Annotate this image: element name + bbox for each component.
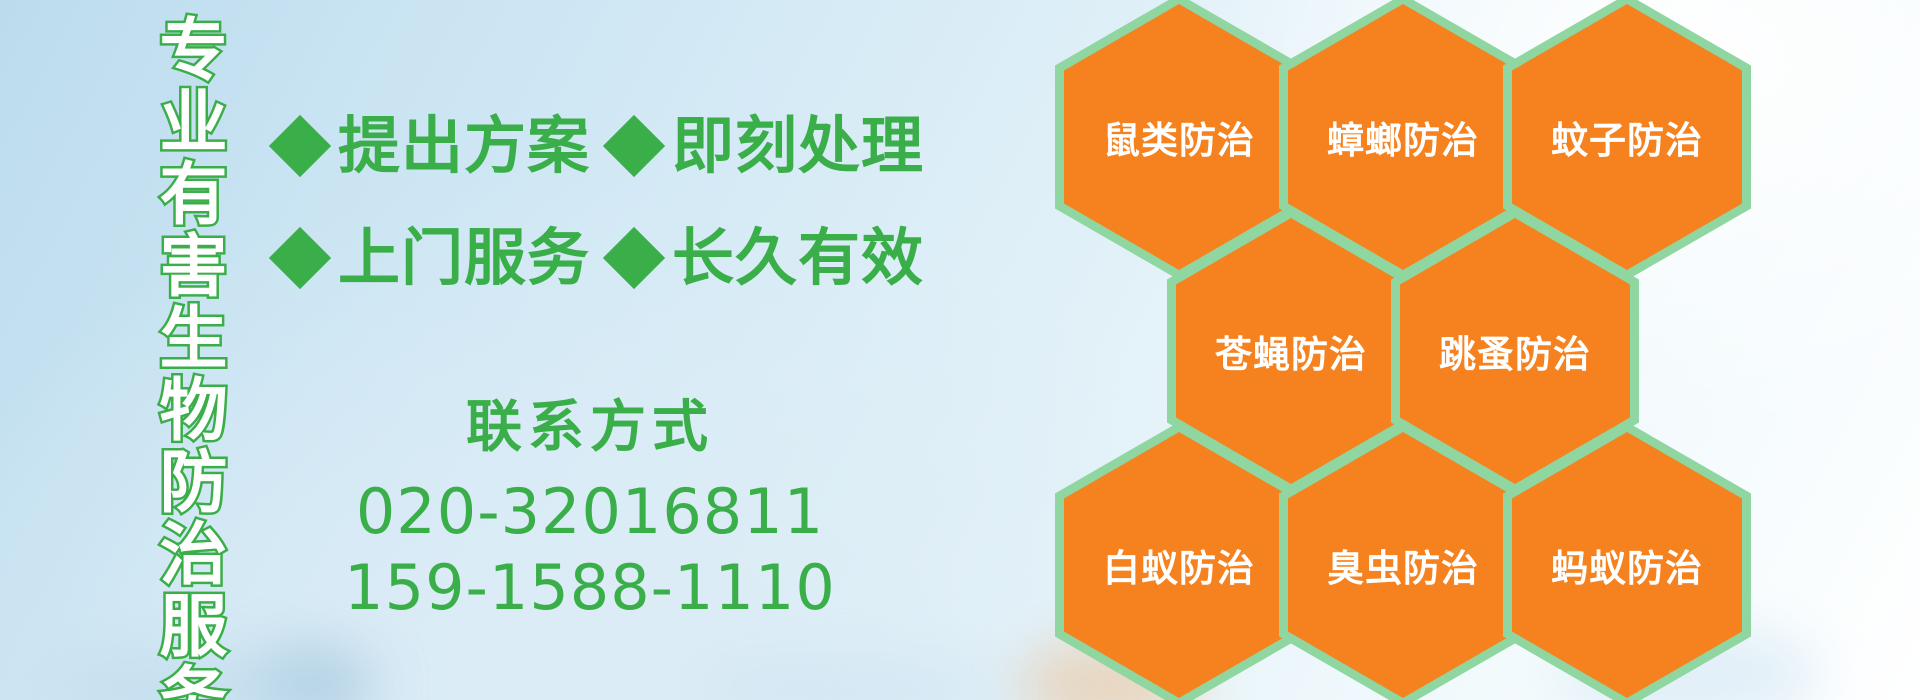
hex-inner-fill: 蚂蚁防治 <box>1512 432 1742 698</box>
background-blur-blob <box>700 660 1000 700</box>
service-label: 蚂蚁防治 <box>1551 538 1703 592</box>
feature-row: 上门服务 长久有效 <box>278 202 858 314</box>
feature-item-immediate-handling: 即刻处理 <box>612 115 924 177</box>
diamond-icon <box>603 115 665 177</box>
contact-title: 联系方式 <box>280 396 900 460</box>
service-label: 苍蝇防治 <box>1215 324 1367 378</box>
background-blur-blob <box>255 648 375 700</box>
feature-item-propose-plan: 提出方案 <box>278 115 590 177</box>
service-label: 跳蚤防治 <box>1439 324 1591 378</box>
contact-block: 联系方式 020-32016811 159-1588-1110 <box>280 396 900 626</box>
feature-label: 即刻处理 <box>672 115 924 177</box>
diamond-icon <box>269 227 331 289</box>
contact-phone-mobile[interactable]: 159-1588-1110 <box>280 550 900 626</box>
hex-inner-fill: 臭虫防治 <box>1288 432 1518 698</box>
vertical-headline: 专业有害生物防治服务 <box>128 14 220 686</box>
feature-item-door-to-door-service: 上门服务 <box>278 227 590 289</box>
service-label: 臭虫防治 <box>1327 538 1479 592</box>
feature-label: 上门服务 <box>338 227 590 289</box>
feature-list: 提出方案 即刻处理 上门服务 长久有效 <box>278 90 858 314</box>
service-label: 蟑螂防治 <box>1327 110 1479 164</box>
feature-label: 长久有效 <box>672 227 924 289</box>
feature-label: 提出方案 <box>338 115 590 177</box>
diamond-icon <box>603 227 665 289</box>
feature-item-long-lasting-effect: 长久有效 <box>612 227 924 289</box>
service-label: 白蚁防治 <box>1103 538 1255 592</box>
hex-inner-fill: 白蚁防治 <box>1064 432 1294 698</box>
service-label: 蚊子防治 <box>1551 110 1703 164</box>
diamond-icon <box>269 115 331 177</box>
service-label: 鼠类防治 <box>1103 110 1255 164</box>
pest-control-banner: 专业有害生物防治服务 提出方案 即刻处理 上门服务 长久有效 联系方式 <box>0 0 1920 700</box>
feature-row: 提出方案 即刻处理 <box>278 90 858 202</box>
service-hexagon-grid: 鼠类防治 蟑螂防治 蚊子防治 苍蝇防治 跳蚤防治 白蚁防治 <box>1055 0 1815 686</box>
contact-phone-landline[interactable]: 020-32016811 <box>280 474 900 550</box>
